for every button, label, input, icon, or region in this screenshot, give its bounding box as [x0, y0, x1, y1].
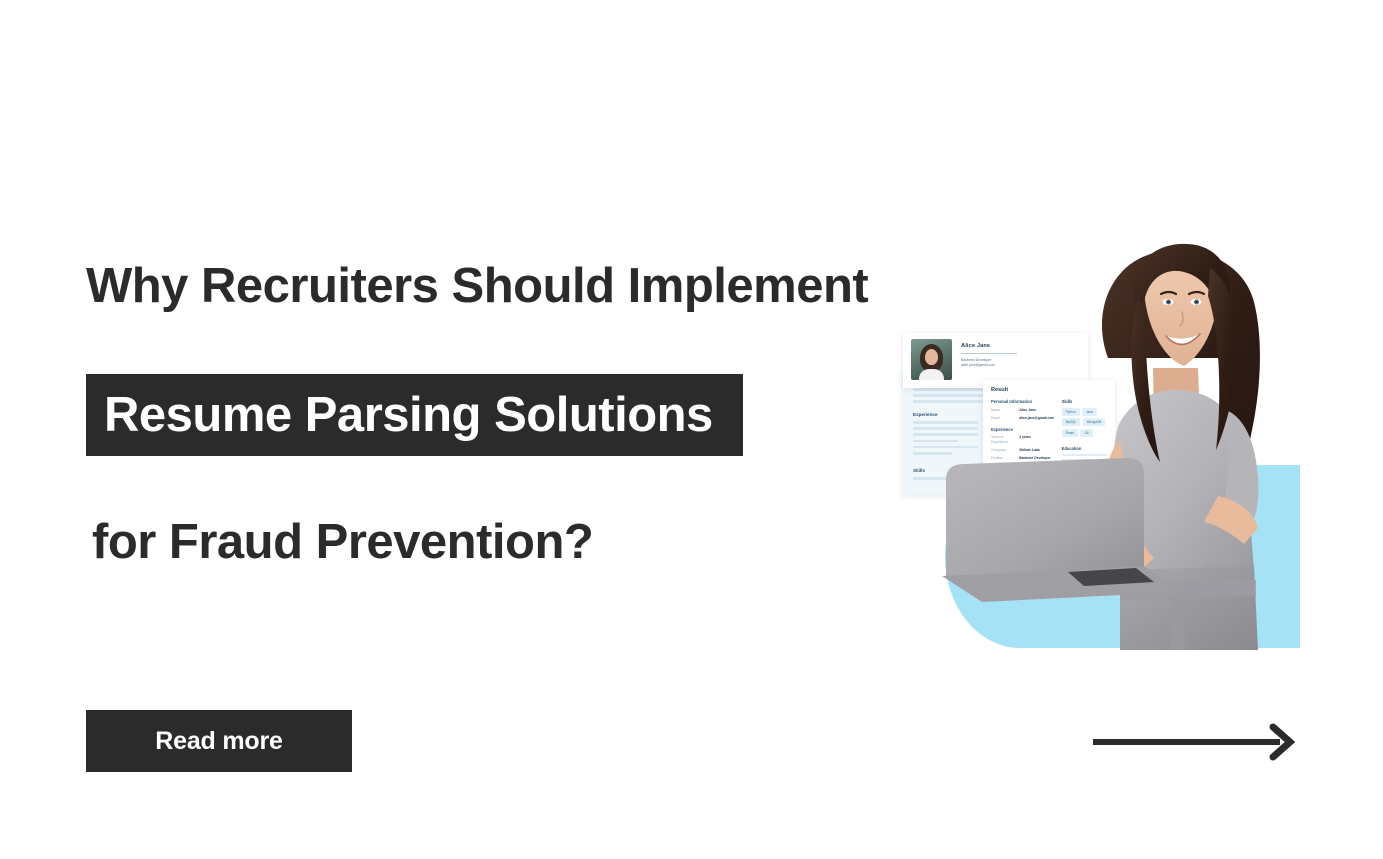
result-experience-heading: Experience [991, 427, 1054, 432]
resume-placeholder-line [913, 440, 958, 443]
result-field: Years of Experience 4 years [991, 435, 1054, 445]
headline-line-1: Why Recruiters Should Implement [86, 258, 906, 314]
resume-placeholder-line [913, 427, 978, 430]
result-field-value: 4 years [1019, 435, 1053, 445]
headline-highlight-wrapper: Resume Parsing Solutions [86, 374, 743, 456]
profile-divider [961, 353, 1017, 354]
result-field-value: alice.jane@gmail.com [1019, 416, 1053, 421]
read-more-button[interactable]: Read more [86, 710, 352, 772]
result-personal-information-heading: Personal Information [991, 399, 1054, 404]
illustration-area: About Experience Education [890, 240, 1310, 660]
result-field: Name Alice Jane [991, 408, 1054, 413]
laptop-icon [930, 452, 1185, 602]
headline-line-2-highlighted: Resume Parsing Solutions [86, 374, 743, 456]
result-field-value: Alice Jane [1019, 408, 1053, 413]
resume-section-experience: Experience [913, 412, 978, 417]
resume-placeholder-line [913, 433, 978, 436]
result-field-key: Name [991, 408, 1019, 413]
arrow-right-icon[interactable] [1090, 722, 1296, 762]
result-field: Email alice.jane@gmail.com [991, 416, 1054, 421]
result-field-key: Years of Experience [991, 435, 1019, 445]
resume-placeholder-line [913, 446, 978, 449]
resume-placeholder-line [913, 421, 978, 424]
avatar-body-shape [919, 369, 944, 380]
headline-block: Why Recruiters Should Implement Resume P… [86, 258, 906, 570]
user-photo-icon [911, 339, 952, 380]
result-field-key: Email [991, 416, 1019, 421]
promo-banner: Why Recruiters Should Implement Resume P… [0, 0, 1383, 859]
headline-line-3: for Fraud Prevention? [92, 514, 906, 570]
